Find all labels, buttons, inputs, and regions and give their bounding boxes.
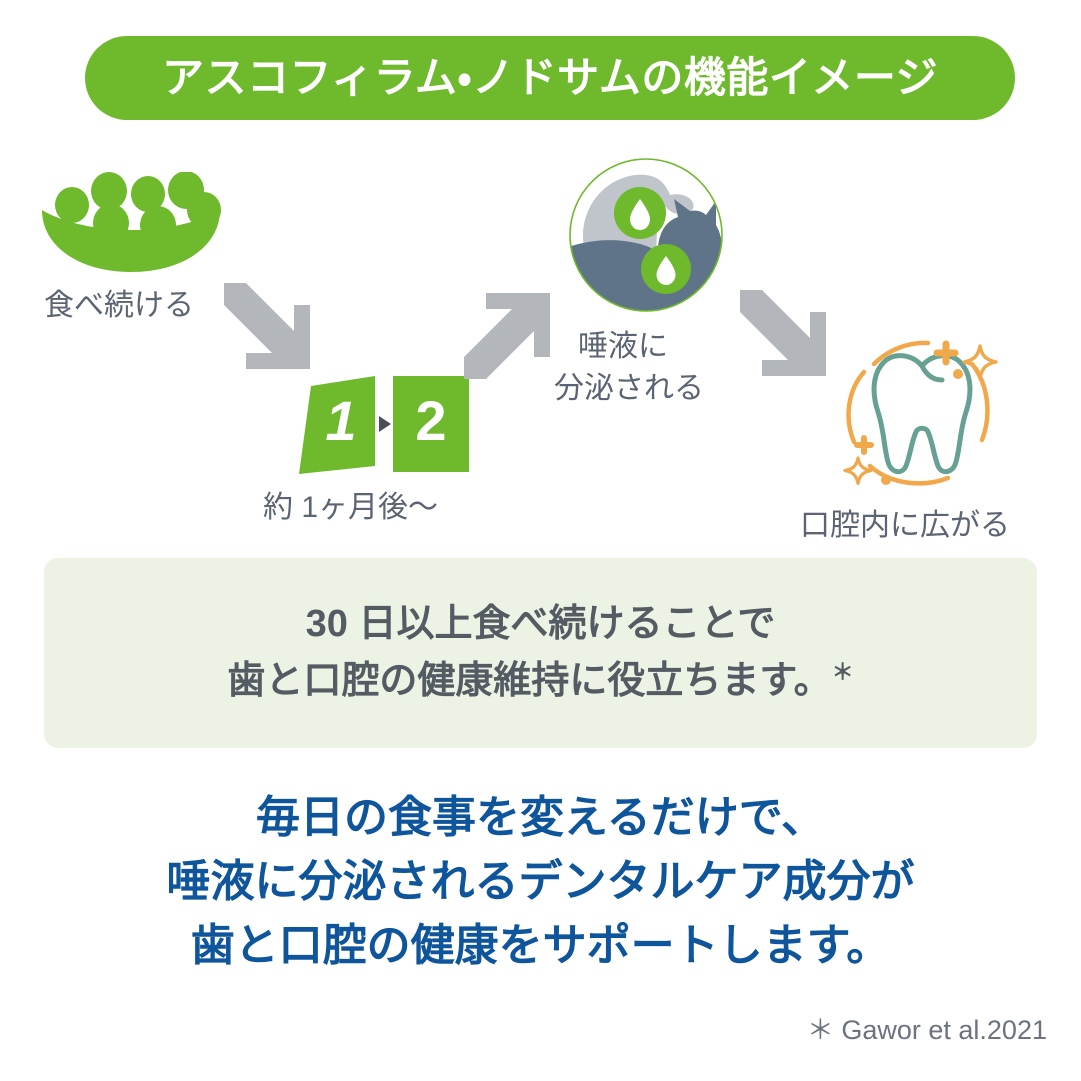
message-block: 毎日の食事を変えるだけで、 唾液に分泌されるデンタルケア成分が 歯と口腔の健康を… — [0, 786, 1081, 977]
page-title: アスコフィラム・ノドサムの機能イメージ — [162, 57, 938, 99]
message-line-1: 毎日の食事を変えるだけで、 — [0, 786, 1081, 850]
dog-cat-saliva-droplet-icon — [566, 155, 726, 315]
flow-step-one-month: 1 2 約 1ヶ月後〜 — [255, 372, 505, 528]
arrow-down-right-icon — [212, 281, 312, 381]
arrow-up-right-icon — [452, 281, 552, 381]
note-line-1: 30 日以上食べ続けることで — [306, 596, 776, 653]
flow-step-one-month-label: 約 1ヶ月後〜 — [263, 488, 505, 528]
bowl-of-kibble-icon — [38, 172, 224, 272]
message-line-2: 唾液に分泌されるデンタルケア成分が — [0, 850, 1081, 914]
message-line-3: 歯と口腔の健康をサポートします。 — [0, 914, 1081, 978]
calendar-pages-icon: 1 2 — [293, 372, 475, 474]
flow-step-oral-label: 口腔内に広がる — [800, 506, 1062, 546]
note-line-2: 歯と口腔の健康維持に役立ちます。 — [227, 660, 831, 702]
infographic-page: アスコフィラム・ノドサムの機能イメージ 食べ続ける 1 — [0, 0, 1081, 1081]
note-line-2-wrapper: 歯と口腔の健康維持に役立ちます。＊ — [227, 653, 853, 710]
title-banner: アスコフィラム・ノドサムの機能イメージ — [85, 36, 1015, 120]
note-box: 30 日以上食べ続けることで 歯と口腔の健康維持に役立ちます。＊ — [44, 558, 1037, 748]
svg-text:2: 2 — [415, 389, 446, 452]
sparkling-tooth-icon — [830, 330, 1014, 500]
note-asterisk: ＊ — [832, 659, 854, 684]
flow-step-oral: 口腔内に広がる — [800, 330, 1062, 546]
footnote-citation: ＊ Gawor et al.2021 — [807, 1008, 1047, 1047]
svg-text:1: 1 — [325, 389, 356, 452]
